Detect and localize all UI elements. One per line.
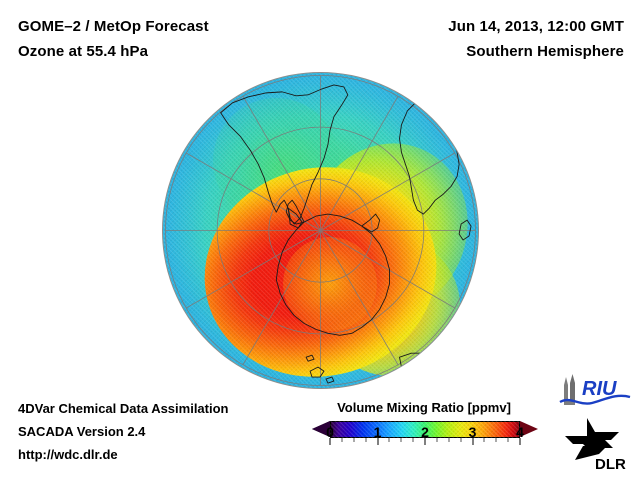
header-right-block: Jun 14, 2013, 12:00 GMT Southern Hemisph…: [324, 14, 624, 64]
dlr-logo: DLR: [561, 416, 635, 474]
colorbar-tick-label: 4: [516, 424, 524, 440]
coastlines: [163, 73, 478, 388]
dlr-wordmark: DLR: [595, 456, 626, 473]
header-left-block: GOME–2 / MetOp Forecast Ozone at 55.4 hP…: [18, 14, 338, 64]
version-label: SACADA Version 2.4: [18, 420, 318, 443]
website-url[interactable]: http://wdc.dlr.de: [18, 443, 318, 466]
timestamp-label: Jun 14, 2013, 12:00 GMT: [324, 14, 624, 39]
product-level-title: Ozone at 55.4 hPa: [18, 39, 338, 64]
ozone-globe-map: [162, 72, 479, 389]
colorbar-tick-label: 3: [469, 424, 477, 440]
hemisphere-label: Southern Hemisphere: [324, 39, 624, 64]
colorbar-tick-label: 2: [421, 424, 429, 440]
dlr-mark-icon: [565, 418, 619, 460]
riu-logo: RIU: [558, 371, 634, 411]
colorbar-tick-label: 1: [374, 424, 382, 440]
colorbar-title: Volume Mixing Ratio [ppmv]: [306, 400, 542, 415]
colorbar-tick-labels: 01234: [330, 424, 520, 444]
globe-disc: [162, 72, 479, 389]
assimilation-method-label: 4DVar Chemical Data Assimilation: [18, 397, 318, 420]
footer-left-block: 4DVar Chemical Data Assimilation SACADA …: [18, 397, 318, 466]
colorbar: Volume Mixing Ratio [ppmv] 01234: [306, 400, 542, 439]
colorbar-tick-label: 0: [326, 424, 334, 440]
instrument-title: GOME–2 / MetOp Forecast: [18, 14, 338, 39]
